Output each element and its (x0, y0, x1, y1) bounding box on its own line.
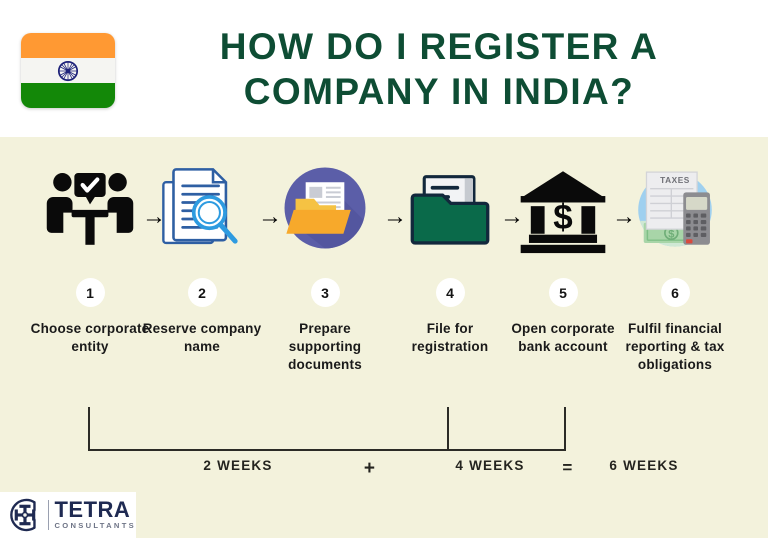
meeting-people-checkmark-icon (42, 160, 138, 256)
flag-band-green (21, 83, 115, 108)
step-label: Choose corporate entity (28, 320, 152, 356)
tetra-monogram-icon (6, 496, 44, 534)
page-title: HOW DO I REGISTER A COMPANY IN INDIA? (130, 10, 748, 128)
step-badge: 1 (76, 278, 105, 307)
step-badge: 6 (661, 278, 690, 307)
step-2: 2 Reserve company name (142, 150, 262, 356)
timeline-operator-plus: + (348, 458, 392, 480)
step-label: Open corporate bank account (501, 320, 625, 356)
step-3: 3 Prepare supporting documents (265, 150, 385, 374)
timeline-operator-equals: = (548, 458, 588, 478)
timeline-tick-start (88, 407, 90, 451)
ashoka-chakra-icon (58, 60, 79, 81)
logo-brand-name: TETRA (54, 499, 136, 521)
step-4: 4 File for registration (390, 150, 510, 356)
step-label: Prepare supporting documents (263, 320, 387, 374)
page-title-line-2: COMPANY IN INDIA? (244, 69, 634, 114)
india-flag-icon (21, 33, 115, 108)
timeline-labels: 2 WEEKS + 4 WEEKS = 6 WEEKS (0, 458, 768, 482)
logo-wordmark: TETRA CONSULTANTS (54, 499, 136, 531)
svg-text:$: $ (668, 228, 674, 240)
flag-band-saffron (21, 33, 115, 58)
timeline-label-segment-two: 4 WEEKS (444, 458, 536, 473)
timeline-tick-end (564, 407, 566, 451)
step-6: $ TAXES (615, 150, 735, 374)
timeline-label-total: 6 WEEKS (596, 458, 692, 473)
svg-text:TAXES: TAXES (660, 176, 690, 185)
documents-magnifier-icon (154, 160, 250, 256)
step-label: Reserve company name (140, 320, 264, 356)
folder-document-circle-icon (277, 160, 373, 256)
svg-text:$: $ (553, 198, 572, 237)
header-banner: HOW DO I REGISTER A COMPANY IN INDIA? (0, 0, 768, 137)
timeline-baseline (88, 449, 566, 451)
timeline-section: 2 WEEKS + 4 WEEKS = 6 WEEKS (0, 395, 768, 490)
timeline-label-segment-one: 2 WEEKS (192, 458, 284, 473)
step-badge: 2 (188, 278, 217, 307)
page-title-line-1: HOW DO I REGISTER A (220, 24, 658, 69)
bank-dollar-icon: $ (515, 160, 611, 256)
logo-divider (48, 500, 50, 530)
taxes-calculator-money-icon: $ TAXES (627, 160, 723, 256)
step-badge: 3 (311, 278, 340, 307)
logo-brand-subtitle: CONSULTANTS (54, 521, 136, 531)
infographic-canvas: HOW DO I REGISTER A COMPANY IN INDIA? (0, 0, 768, 538)
step-5: $ 5 Open corporate bank account (503, 150, 623, 356)
steps-row: 1 Choose corporate entity → (0, 150, 768, 395)
green-folder-document-icon (402, 160, 498, 256)
step-label: Fulfil financial reporting & tax obligat… (613, 320, 737, 374)
step-badge: 4 (436, 278, 465, 307)
step-badge: 5 (549, 278, 578, 307)
timeline-tick-middle (447, 407, 449, 451)
step-1: 1 Choose corporate entity (30, 150, 150, 356)
flag-band-white (21, 58, 115, 83)
footer-logo[interactable]: TETRA CONSULTANTS (0, 492, 136, 538)
step-label: File for registration (388, 320, 512, 356)
